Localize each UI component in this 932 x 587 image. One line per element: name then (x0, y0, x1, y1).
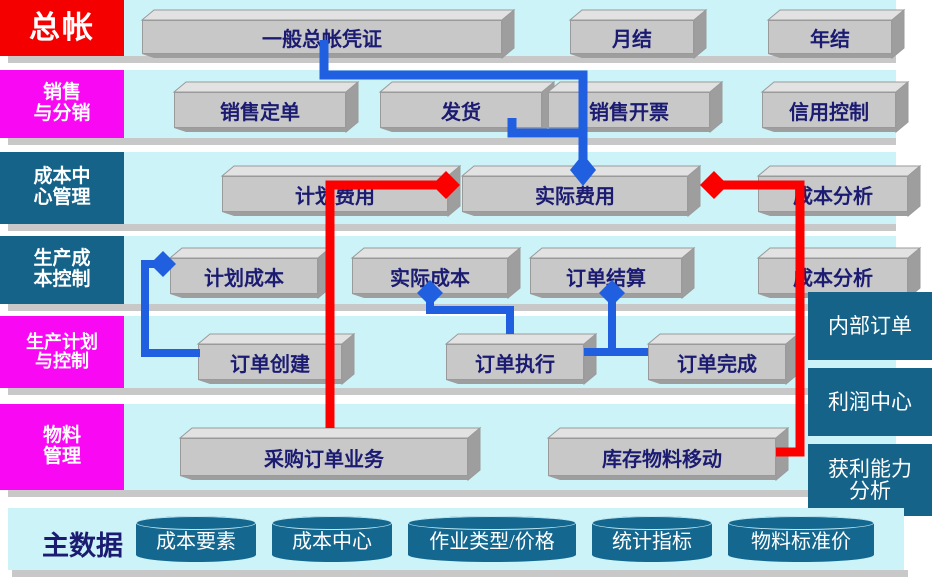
band-shadow (8, 490, 896, 497)
box-order-execute[interactable]: 订单执行 (446, 334, 584, 370)
label-line: 分析 (849, 479, 891, 503)
box-actual-expense[interactable]: 实际费用 (462, 166, 688, 202)
label-line: 物料 (43, 425, 81, 446)
right-panel-internal-order[interactable]: 内部订单 (808, 292, 932, 360)
box-credit-control[interactable]: 信用控制 (762, 82, 896, 118)
box-label: 一般总帐凭证 (142, 20, 502, 54)
master-data-label: 主数据 (42, 524, 123, 563)
cylinder-activity-type-price[interactable]: 作业类型/价格 (408, 516, 576, 562)
master-data-bar-shadow (12, 570, 908, 577)
box-label: 订单创建 (198, 344, 342, 380)
label-line: 生产成 (33, 248, 90, 269)
box-label: 年结 (768, 20, 892, 54)
box-planned-cost[interactable]: 计划成本 (170, 248, 318, 284)
cylinder-label: 统计指标 (592, 525, 712, 554)
label-line: 心管理 (33, 187, 90, 208)
box-year-end[interactable]: 年结 (768, 10, 892, 44)
box-stock-material-movement[interactable]: 库存物料移动 (548, 428, 776, 466)
right-panel-label: 获利能力 分析 (828, 458, 912, 502)
box-sales-billing[interactable]: 销售开票 (548, 82, 710, 118)
box-label: 订单完成 (648, 344, 786, 380)
box-label: 采购订单业务 (180, 438, 468, 476)
cylinder-label: 成本要素 (136, 525, 256, 554)
cylinder-cost-center[interactable]: 成本中心 (272, 516, 392, 562)
module-label-text: 物料 管理 (43, 426, 81, 467)
right-panel-profitability-analysis[interactable]: 获利能力 分析 (808, 444, 932, 516)
box-pcc-cost-analysis[interactable]: 成本分析 (758, 248, 908, 284)
label-line: 销售 (43, 82, 81, 103)
right-panel-profit-center[interactable]: 利润中心 (808, 368, 932, 436)
box-sales-order[interactable]: 销售定单 (174, 82, 346, 118)
box-actual-cost[interactable]: 实际成本 (352, 248, 508, 284)
box-label: 实际费用 (462, 176, 688, 212)
module-label-text: 销售 与分销 (33, 83, 90, 124)
box-purchase-order-business[interactable]: 采购订单业务 (180, 428, 468, 466)
right-panel-label: 内部订单 (828, 315, 912, 337)
box-label: 库存物料移动 (548, 438, 776, 476)
band-shadow (8, 388, 896, 395)
cylinder-statistical-key[interactable]: 统计指标 (592, 516, 712, 562)
box-order-create[interactable]: 订单创建 (198, 334, 342, 370)
box-label: 订单结算 (530, 258, 682, 294)
module-label-text: 生产成 本控制 (33, 249, 90, 290)
module-label-text: 生产计划 与控制 (26, 333, 98, 372)
module-label-production-planning-control: 生产计划 与控制 (0, 316, 124, 388)
box-label: 成本分析 (758, 258, 908, 294)
cylinder-label: 物料标准价 (728, 525, 874, 554)
label-line: 成本中 (33, 166, 90, 187)
right-panel-label: 利润中心 (828, 391, 912, 413)
module-label-production-cost-control: 生产成 本控制 (0, 236, 124, 304)
label-line: 与控制 (35, 351, 89, 371)
label-line: 与分销 (33, 103, 90, 124)
box-planned-expense[interactable]: 计划费用 (222, 166, 448, 202)
box-label: 信用控制 (762, 92, 896, 128)
box-delivery[interactable]: 发货 (380, 82, 542, 118)
module-label-general-ledger: 总帐 (0, 0, 124, 56)
label-line: 本控制 (33, 269, 90, 290)
box-month-end[interactable]: 月结 (570, 10, 694, 44)
band-shadow (8, 138, 896, 145)
box-label: 成本分析 (758, 176, 908, 212)
label-line: 管理 (43, 446, 81, 467)
box-label: 销售开票 (548, 92, 710, 128)
module-label-text: 总帐 (29, 11, 95, 44)
label-line: 生产计划 (26, 332, 98, 352)
module-label-sales-distribution: 销售 与分销 (0, 70, 124, 138)
band-shadow (8, 304, 896, 311)
box-label: 月结 (570, 20, 694, 54)
sap-co-process-flow-diagram: 总帐 销售 与分销 成本中 心管理 生产成 本控制 生产计划 与控制 物料 管理 (0, 0, 932, 587)
box-cc-cost-analysis[interactable]: 成本分析 (758, 166, 908, 202)
box-label: 计划费用 (222, 176, 448, 212)
box-order-complete[interactable]: 订单完成 (648, 334, 786, 370)
cylinder-label: 成本中心 (272, 525, 392, 554)
box-label: 发货 (380, 92, 542, 128)
box-label: 销售定单 (174, 92, 346, 128)
cylinder-material-std-price[interactable]: 物料标准价 (728, 516, 874, 562)
cylinder-cost-element[interactable]: 成本要素 (136, 516, 256, 562)
module-label-cost-center-management: 成本中 心管理 (0, 152, 124, 224)
module-label-text: 成本中 心管理 (33, 167, 90, 208)
box-label: 计划成本 (170, 258, 318, 294)
box-gl-voucher[interactable]: 一般总帐凭证 (142, 10, 502, 44)
box-label: 实际成本 (352, 258, 508, 294)
module-label-material-management: 物料 管理 (0, 404, 124, 490)
band-shadow (8, 224, 896, 231)
box-label: 订单执行 (446, 344, 584, 380)
box-order-settlement[interactable]: 订单结算 (530, 248, 682, 284)
label-line: 获利能力 (828, 457, 912, 481)
cylinder-label: 作业类型/价格 (408, 525, 576, 554)
